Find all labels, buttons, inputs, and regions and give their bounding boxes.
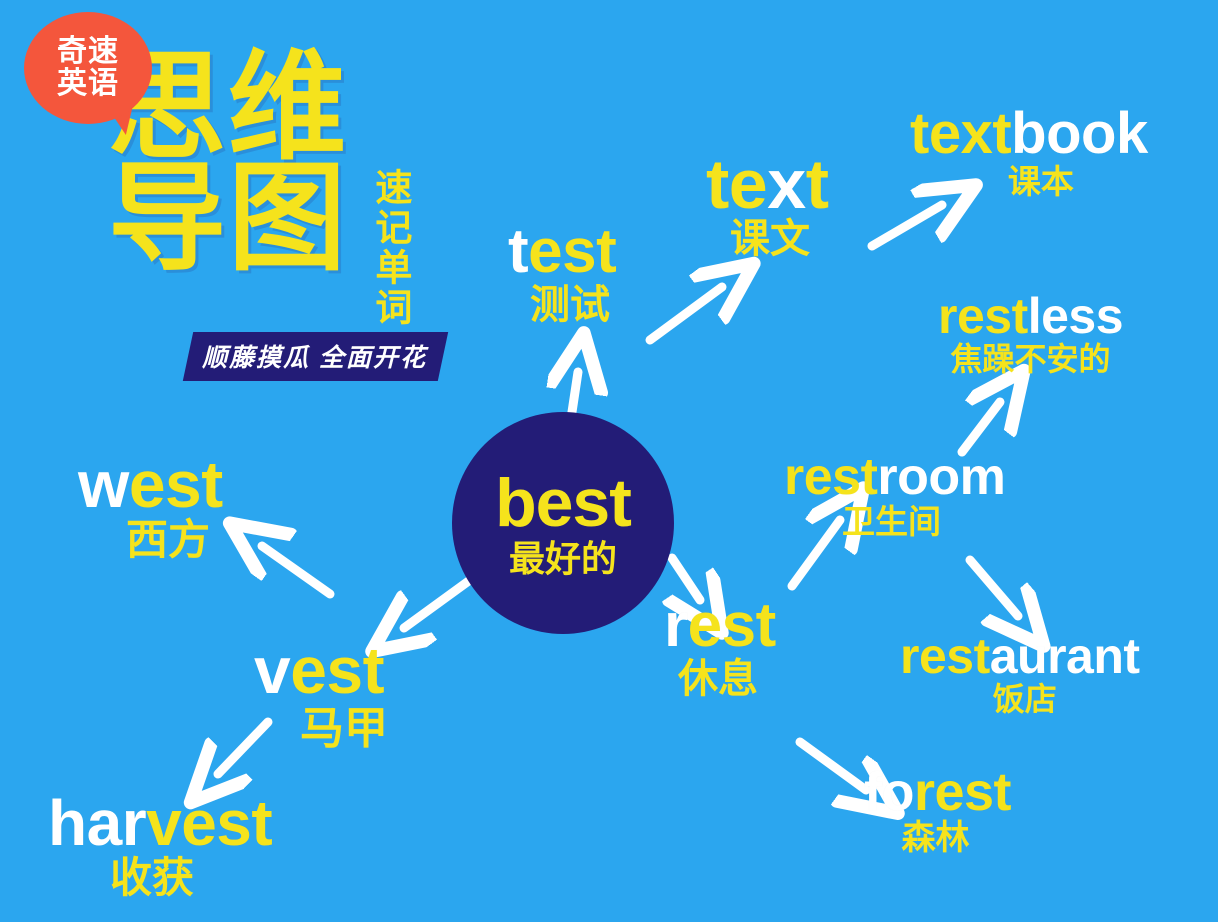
- word-restroom-en: restroom: [784, 452, 1005, 503]
- word-harvest-en: harvest: [48, 792, 272, 855]
- word-west-en: west: [78, 452, 223, 517]
- word-rest-en: rest: [664, 596, 776, 657]
- logo-title-line1: 思维: [108, 52, 408, 163]
- word-textbook-cn: 课本: [934, 165, 1148, 198]
- word-text-cn: 课文: [730, 219, 829, 259]
- arrow-text-to-textbook: [872, 205, 942, 246]
- logo-slogan-bar: 顺藤摸瓜 全面开花: [183, 332, 448, 381]
- node-text[interactable]: text 课文: [706, 150, 829, 259]
- node-textbook[interactable]: textbook 课本: [910, 106, 1148, 198]
- logo-side-text: 速记单词: [370, 168, 409, 328]
- word-restroom-cn: 卫生间: [842, 505, 1005, 538]
- brand-badge-line2: 英语: [57, 68, 119, 100]
- node-restless[interactable]: restless 焦躁不安的: [938, 292, 1123, 375]
- word-restless-cn: 焦躁不安的: [938, 343, 1123, 375]
- brand-badge-line1: 奇速: [57, 36, 119, 68]
- brand-logo-block: 奇速 英语 思维 导图 速记单词 顺藤摸瓜 全面开花: [0, 0, 470, 400]
- logo-title: 思维 导图: [108, 52, 408, 274]
- arrow-restroom-to-restless: [962, 402, 1000, 452]
- word-text-en: text: [706, 150, 829, 219]
- word-rest-cn: 休息: [678, 659, 776, 699]
- word-vest-cn: 马甲: [300, 707, 388, 751]
- word-restless-en: restless: [938, 292, 1123, 341]
- word-west-cn: 西方: [126, 519, 223, 561]
- node-west[interactable]: west 西方: [78, 452, 223, 561]
- word-textbook-en: textbook: [910, 106, 1148, 163]
- word-restaurant-en: restaurant: [900, 632, 1140, 681]
- root-node-best[interactable]: best 最好的: [452, 412, 674, 634]
- node-test[interactable]: test 测试: [508, 222, 616, 325]
- brand-badge: 奇速 英语: [24, 12, 152, 124]
- arrow-test-to-text: [650, 287, 722, 340]
- mindmap-canvas: best 最好的 test 测试 text 课文 textbook 课本 res…: [0, 0, 1218, 922]
- node-restroom[interactable]: restroom 卫生间: [784, 452, 1005, 538]
- arrow-vest-to-west: [262, 546, 330, 594]
- root-word-en: best: [495, 469, 631, 537]
- word-harvest-cn: 收获: [110, 857, 272, 899]
- word-test-en: test: [508, 222, 616, 283]
- word-vest-en: vest: [254, 638, 388, 703]
- node-vest[interactable]: vest 马甲: [254, 638, 388, 751]
- word-restaurant-cn: 饭店: [910, 683, 1140, 715]
- arrow-best-to-vest: [404, 580, 470, 628]
- word-forest-cn: 森林: [860, 821, 1011, 855]
- word-test-cn: 测试: [530, 285, 616, 325]
- root-word-cn: 最好的: [509, 541, 617, 577]
- node-forest[interactable]: forest 森林: [864, 766, 1011, 855]
- node-rest[interactable]: rest 休息: [664, 596, 776, 699]
- arrow-rest-to-forest: [800, 742, 866, 790]
- node-restaurant[interactable]: restaurant 饭店: [900, 632, 1140, 715]
- logo-slogan-text: 顺藤摸瓜 全面开花: [202, 338, 427, 374]
- word-forest-en: forest: [864, 766, 1011, 819]
- arrow-restroom-to-restaurant: [970, 560, 1018, 616]
- node-harvest[interactable]: harvest 收获: [48, 792, 272, 899]
- logo-title-line2: 导图: [108, 163, 408, 274]
- arrow-best-to-test: [572, 372, 578, 412]
